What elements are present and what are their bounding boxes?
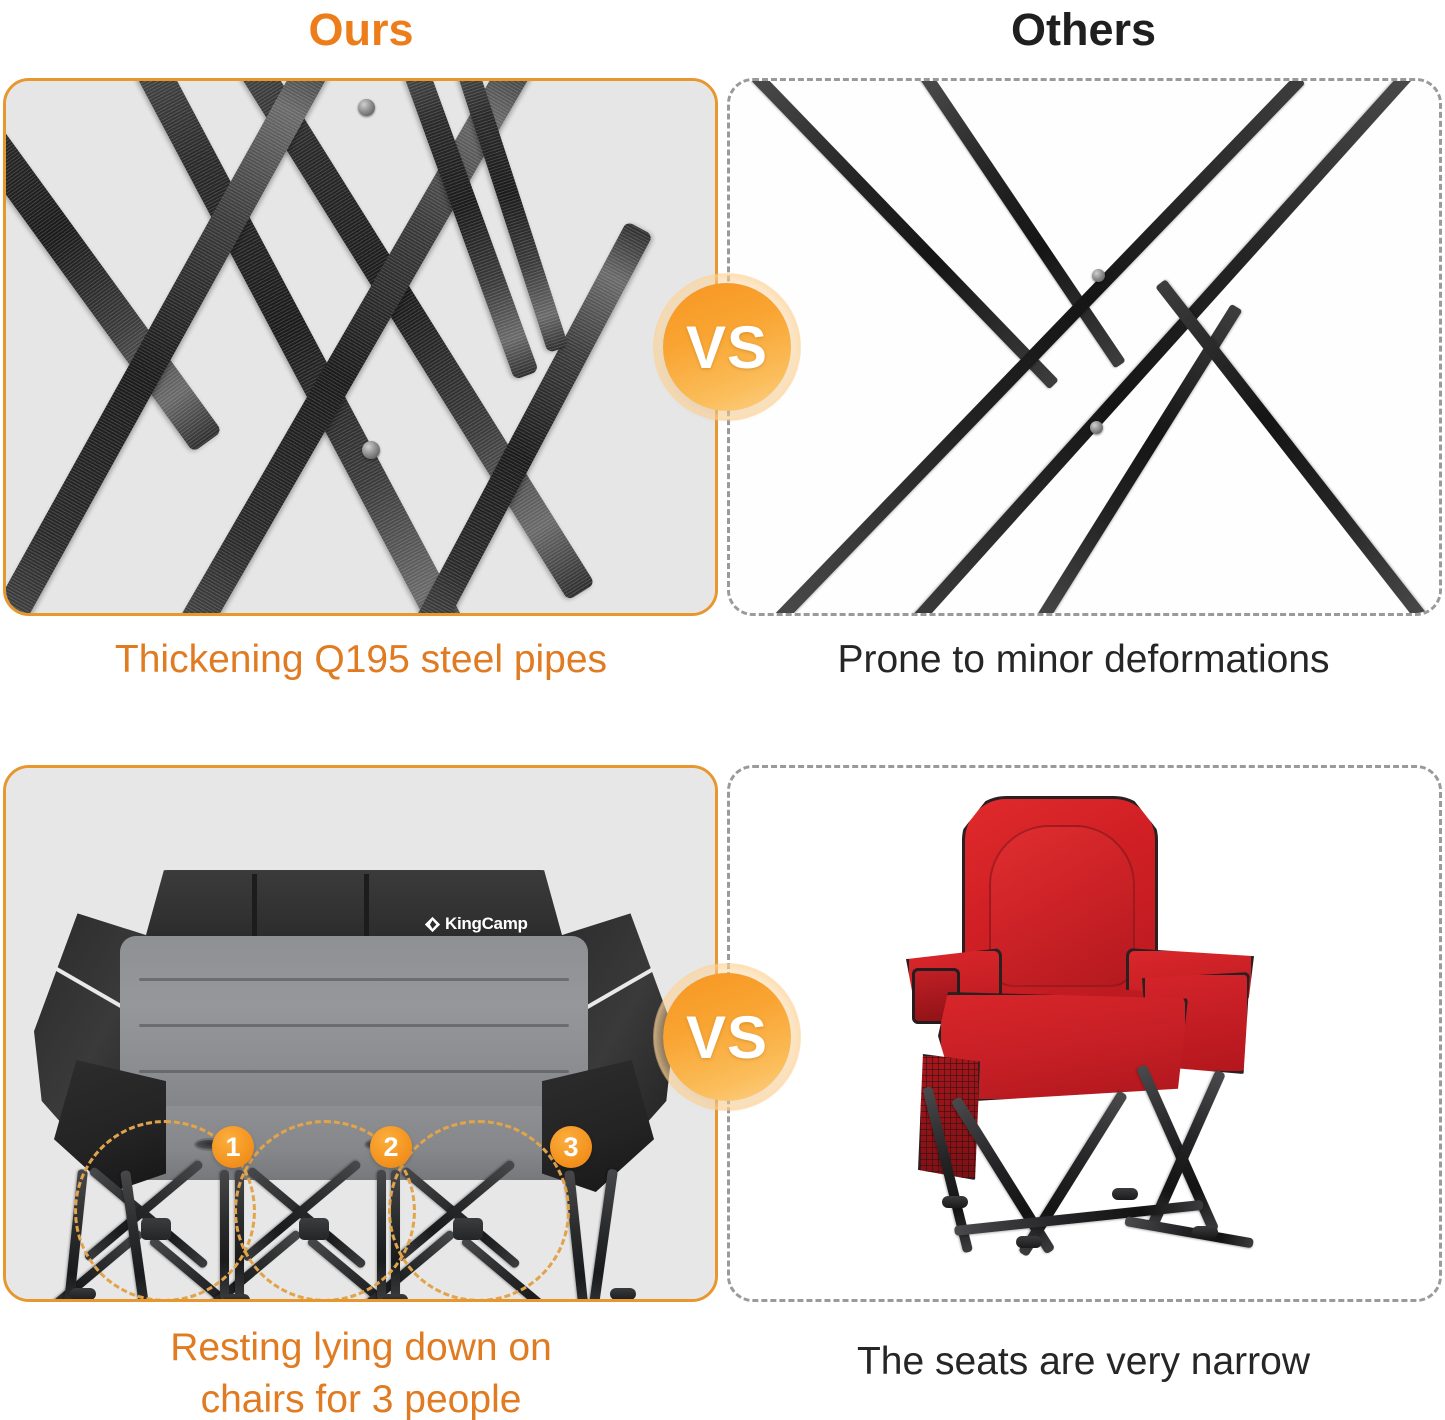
kingcamp-logo-text: KingCamp bbox=[445, 914, 528, 934]
comparison-infographic: Ours Others VS bbox=[0, 0, 1445, 1420]
sofa-foot bbox=[224, 1294, 250, 1302]
sofa-chair-graphic: KingCamp bbox=[34, 870, 674, 1290]
column-header-ours: Ours bbox=[0, 2, 722, 58]
red-chair-foot bbox=[1112, 1188, 1138, 1200]
vs-badge-steel-pipes: VS bbox=[653, 273, 801, 421]
seat-number-badge-3: 3 bbox=[550, 1126, 592, 1168]
vs-label: VS bbox=[686, 1003, 768, 1072]
image-thin-pipes bbox=[730, 81, 1439, 613]
pipe-rivet-upper bbox=[358, 99, 375, 116]
vs-label: VS bbox=[686, 313, 768, 382]
red-chair-graphic bbox=[890, 796, 1290, 1266]
pipe-rivet-center bbox=[362, 441, 380, 459]
caption-ours-three-people: Resting lying down on chairs for 3 peopl… bbox=[0, 1322, 722, 1420]
red-chair-foot bbox=[1016, 1236, 1042, 1248]
kingcamp-logo: KingCamp bbox=[424, 914, 528, 934]
seat-number-label: 3 bbox=[563, 1132, 578, 1163]
panel-others-narrow-chair bbox=[727, 765, 1442, 1302]
red-chair-foot bbox=[942, 1196, 968, 1208]
sofa-foot bbox=[70, 1288, 96, 1300]
sofa-foot bbox=[610, 1288, 636, 1300]
seat-number-label: 2 bbox=[383, 1132, 398, 1163]
red-chair-foot bbox=[1192, 1226, 1218, 1238]
seat-number-label: 1 bbox=[225, 1132, 240, 1163]
column-header-others: Others bbox=[722, 2, 1445, 58]
seat-number-badge-1: 1 bbox=[212, 1126, 254, 1168]
thin-pipe-rivet-upper bbox=[1092, 269, 1105, 282]
caption-others-narrow-seats: The seats are very narrow bbox=[722, 1336, 1445, 1388]
caption-line-1: Resting lying down on bbox=[0, 1322, 722, 1374]
panel-ours-three-seat-sofa: KingCamp bbox=[3, 765, 718, 1302]
caption-others-deformations: Prone to minor deformations bbox=[722, 634, 1445, 686]
panel-others-thin-pipes bbox=[727, 78, 1442, 616]
vs-badge-circle: VS bbox=[663, 283, 791, 411]
vs-badge-circle: VS bbox=[663, 973, 791, 1101]
red-chair-backrest-panel bbox=[989, 825, 1135, 987]
thin-pipe-rivet-lower bbox=[1090, 421, 1103, 434]
caption-ours-steel-pipes: Thickening Q195 steel pipes bbox=[0, 634, 722, 686]
vs-badge-seating: VS bbox=[653, 963, 801, 1111]
seat-highlight-circle-3 bbox=[388, 1120, 570, 1302]
image-red-camping-chair bbox=[730, 768, 1439, 1299]
seat-number-badge-2: 2 bbox=[370, 1126, 412, 1168]
image-thick-steel-pipes bbox=[6, 81, 715, 613]
sofa-back-cushion bbox=[120, 936, 588, 1132]
kingcamp-diamond-icon bbox=[424, 916, 441, 933]
caption-line-2: chairs for 3 people bbox=[0, 1374, 722, 1420]
image-kingcamp-sofa-chair: KingCamp bbox=[6, 768, 715, 1299]
panel-ours-steel-pipes bbox=[3, 78, 718, 616]
sofa-foot bbox=[382, 1294, 408, 1302]
